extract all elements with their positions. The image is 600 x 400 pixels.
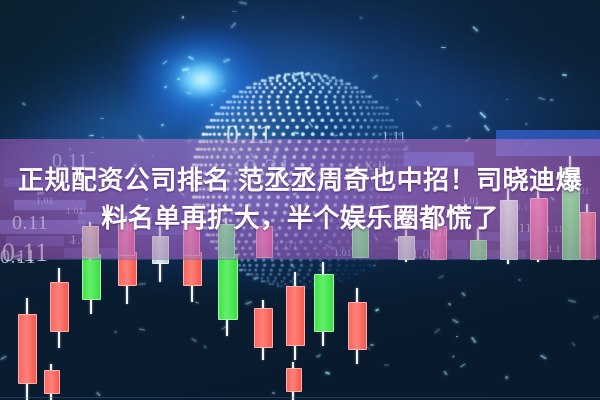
headline-line-2: 料名单再扩大，半个娱乐圈都慌了	[101, 201, 499, 235]
candlestick-body	[314, 274, 334, 332]
candlestick-body	[18, 314, 37, 384]
panel-top-edge	[0, 259, 600, 260]
promo-banner: 0.110.110.111.011.011.011.011.111.010.11…	[0, 0, 600, 400]
panel-bottom-edge	[0, 397, 600, 398]
headline-block: 正规配资公司排名 范丞丞周奇也中招！司晓迪爆 料名单再扩大，半个娱乐圈都慌了	[0, 139, 600, 259]
headline-line-1: 正规配资公司排名 范丞丞周奇也中招！司晓迪爆	[18, 163, 582, 197]
candlestick-body	[286, 368, 302, 392]
candlestick-body	[44, 370, 60, 394]
